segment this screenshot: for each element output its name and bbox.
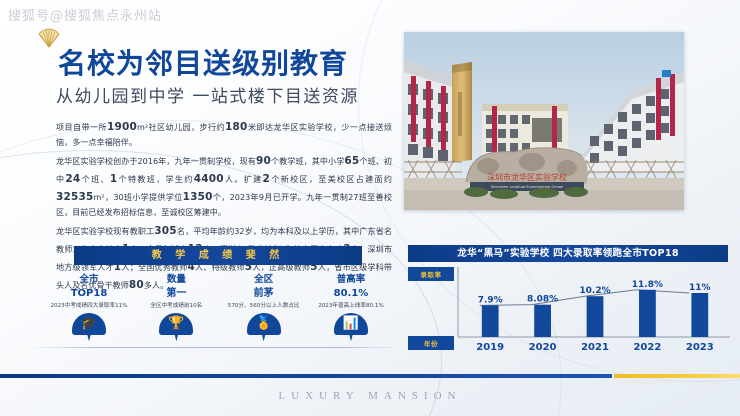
- school-campus-photo: 深圳市龙华区实验学校 Shenzhen Longhua Experimental…: [404, 32, 684, 210]
- badge-glyph: 🏅: [247, 316, 281, 329]
- body-text-run: 个特教班，学生约: [117, 174, 193, 184]
- badge-glyph: 🎓: [72, 316, 106, 329]
- stat-badge-wrap: 🏅: [221, 313, 307, 341]
- chart-y-axis-label: 录取率: [408, 267, 454, 281]
- chart-bar: [482, 305, 499, 337]
- stat-description: 2023中考成绩四大录取率11%: [46, 301, 132, 309]
- stat-value: 前茅: [221, 287, 307, 301]
- slide-canvas: 搜狐号@搜狐焦点永州站 名校为邻目送级别教育 从幼儿园到中学 一站式: [0, 0, 740, 416]
- body-text-run: 龙华区实验学校创办于2016年，九年一贯制学校，现有: [56, 156, 256, 166]
- chart-bar-label: 10.2%: [579, 286, 610, 296]
- stat-badge-wrap: 🎓: [46, 313, 132, 341]
- footer-rule-gold: [614, 374, 740, 378]
- chart-bar: [639, 290, 656, 337]
- stat-badge-wrap: 📊: [308, 313, 394, 341]
- chart-x-tick: 2023: [686, 342, 714, 353]
- body-text-run: 个班、: [80, 174, 109, 184]
- svg-text:深圳市龙华区实验学校: 深圳市龙华区实验学校: [487, 172, 567, 182]
- watermark-text: 搜狐号@搜狐焦点永州站: [8, 5, 162, 24]
- medal-icon: 🏅: [247, 313, 281, 341]
- highlight-number: 32535: [56, 191, 94, 203]
- body-text-run: 个新校区，至美校区占建面约: [270, 174, 392, 184]
- chart-x-tick: 2022: [633, 342, 661, 353]
- page-title: 名校为邻目送级别教育: [58, 42, 348, 82]
- achievement-stat: 数量第一全区中考成绩前10名🏆: [133, 274, 219, 341]
- chart-bar: [587, 296, 604, 337]
- stat-description: 2023年普高上线率80.1%: [308, 301, 394, 309]
- badge-glyph: 🏆: [159, 316, 193, 329]
- chart-x-tick: 2019: [476, 342, 504, 353]
- bar-people-icon: 📊: [334, 313, 368, 341]
- stat-label: 数量: [133, 274, 219, 287]
- achievement-banner-title: 教 学 成 绩 斐 然: [74, 246, 362, 265]
- highlight-number: 24: [65, 173, 80, 185]
- section-divider: [28, 347, 400, 348]
- highlight-number: 2: [263, 173, 271, 185]
- stat-label: 普高率: [308, 274, 394, 287]
- stat-description: 全区中考成绩前10名: [133, 301, 219, 309]
- stat-label: 全市: [46, 274, 132, 287]
- stat-value: 第一: [133, 287, 219, 301]
- badge-stem: [174, 333, 178, 341]
- badge-stem: [349, 333, 353, 341]
- chart-x-tick: 2021: [581, 342, 609, 353]
- chart-bar-label: 7.9%: [478, 295, 503, 305]
- highlight-number: 180: [225, 121, 248, 133]
- body-paragraph: 项目自带一所1900m²社区幼儿园，步行约180米即达龙华区实验学校，少一点接送…: [56, 118, 392, 150]
- trophy-icon: 🏆: [159, 313, 193, 341]
- highlight-number: 1900: [107, 121, 137, 133]
- chart-bar-label: 8.08%: [527, 295, 558, 305]
- highlight-number: 305: [154, 225, 177, 237]
- achievement-stat: 全区前茅570分、560分以上人数占比🏅: [221, 274, 307, 341]
- badge-glyph: 📊: [334, 316, 368, 329]
- body-text-run: m²，30班小学提供学位: [94, 192, 183, 202]
- chart-bar: [534, 305, 551, 337]
- chart-title: 龙华“黑马”实验学校 四大录取率领跑全市TOP18: [408, 245, 728, 262]
- stat-value: 80.1%: [308, 287, 394, 301]
- achievement-stat: 普高率80.1%2023年普高上线率80.1%📊: [308, 274, 394, 341]
- chart-plot-area: 7.9%20198.08%202010.2%202111.8%202211%20…: [454, 267, 732, 355]
- achievement-stat: 全市TOP182023中考成绩四大录取率11%🎓: [46, 274, 132, 341]
- body-text-run: 项目自带一所: [56, 122, 107, 132]
- footer-brand: LUXURY MANSION: [0, 390, 740, 402]
- chart-bar: [691, 293, 708, 337]
- highlight-number: 65: [344, 155, 359, 167]
- body-text-run: 龙华区实验学校现有教职工: [56, 226, 154, 236]
- body-paragraph: 龙华区实验学校创办于2016年，九年一贯制学校，现有90个教学班，其中小学65个…: [56, 152, 392, 220]
- stat-description: 570分、560分以上人数占比: [221, 301, 307, 309]
- chart-x-tick: 2020: [529, 342, 557, 353]
- footer-rule-blue: [0, 374, 612, 378]
- highlight-number: 90: [256, 155, 271, 167]
- stat-value: TOP18: [46, 287, 132, 301]
- footer-rule: [0, 374, 740, 378]
- body-text-run: 人。扩建: [224, 174, 263, 184]
- stat-label: 全区: [221, 274, 307, 287]
- achievement-stats: 全市TOP182023中考成绩四大录取率11%🎓数量第一全区中考成绩前10名🏆全…: [46, 274, 394, 341]
- highlight-number: 1350: [183, 191, 213, 203]
- body-text-run: 个教学班，其中小学: [271, 156, 344, 166]
- graduation-cap-icon: 🎓: [72, 313, 106, 341]
- body-text-run: m²社区幼儿园，步行约: [137, 122, 225, 132]
- stat-badge-wrap: 🏆: [133, 313, 219, 341]
- body-copy: 项目自带一所1900m²社区幼儿园，步行约180米即达龙华区实验学校，少一点接送…: [56, 118, 392, 296]
- chart-bar-label: 11%: [689, 283, 711, 293]
- svg-text:Shenzhen Longhua Experimental: Shenzhen Longhua Experimental School: [491, 185, 563, 189]
- chart-bar-label: 11.8%: [632, 280, 663, 290]
- badge-stem: [262, 333, 266, 341]
- page-subtitle: 从幼儿园到中学 一站式楼下目送资源: [56, 82, 359, 107]
- admission-rate-chart: 龙华“黑马”实验学校 四大录取率领跑全市TOP18 录取率 年份 7.9%201…: [404, 245, 734, 357]
- chart-x-axis-label: 年份: [408, 336, 454, 350]
- badge-stem: [87, 333, 91, 341]
- highlight-number: 4400: [194, 173, 224, 185]
